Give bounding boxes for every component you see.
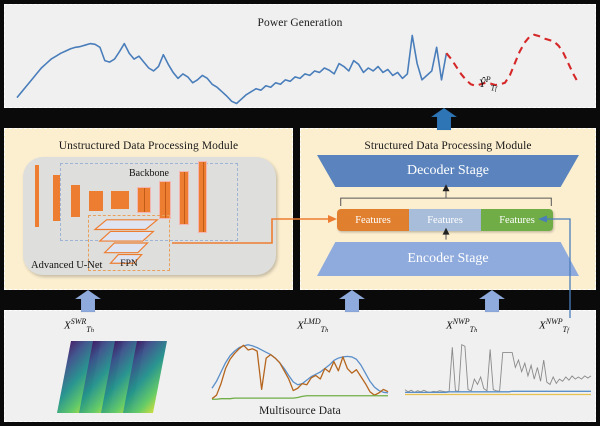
diagram-root: Power Generation ŶPTf Unstructured Data… bbox=[0, 0, 600, 426]
encoder-stage[interactable]: Encoder Stage bbox=[317, 242, 579, 276]
unstructured-module-title: Unstructured Data Processing Module bbox=[5, 140, 292, 152]
feature-label-2: Features bbox=[499, 215, 535, 226]
label-nwp-h-sup: NWP bbox=[453, 317, 470, 326]
unet-bar-split bbox=[144, 188, 145, 212]
nwp-series-spiky-gray bbox=[405, 345, 591, 393]
feature-box-nwp-future[interactable]: Features bbox=[481, 209, 553, 231]
label-nwp-future: XNWPTf bbox=[539, 317, 569, 334]
backbone-label: Backbone bbox=[61, 168, 237, 179]
nwp-timeseries-chart bbox=[403, 339, 593, 401]
label-swr-sup: SWR bbox=[71, 317, 87, 326]
label-nwp-history: XNWPTh bbox=[446, 317, 477, 334]
label-lmd: XLMDTh bbox=[297, 317, 328, 334]
unet-layer-bar-1 bbox=[53, 175, 60, 221]
swr-satellite-heatmaps bbox=[57, 339, 197, 415]
label-nwp-h-subsub: h bbox=[474, 327, 477, 334]
structured-data-processing-module: Structured Data Processing Module Decode… bbox=[300, 128, 596, 290]
unet-bar-split bbox=[165, 182, 166, 218]
power-generation-chart bbox=[5, 27, 595, 109]
unet-layer-bar-8 bbox=[198, 161, 207, 233]
arrow-swr-to-unet bbox=[75, 290, 101, 312]
unet-layer-bar-6 bbox=[159, 181, 171, 219]
encoder-stage-label: Encoder Stage bbox=[407, 251, 488, 267]
decoder-stage-label: Decoder Stage bbox=[407, 163, 489, 179]
lmd-series-flat-green bbox=[212, 396, 388, 399]
unet-layer-bar-5 bbox=[137, 187, 151, 213]
label-swr: XSWRTh bbox=[64, 317, 94, 334]
yhat-base: Ŷ bbox=[479, 76, 486, 90]
unet-layer-bar-7 bbox=[179, 171, 189, 225]
label-lmd-base: X bbox=[297, 320, 304, 332]
arrow-decoder-to-power bbox=[431, 108, 457, 130]
unet-layer-bar-4 bbox=[111, 191, 129, 209]
label-lmd-subsub: h bbox=[325, 327, 328, 334]
forecast-series bbox=[446, 35, 578, 86]
advanced-unet-label: Advanced U-Net bbox=[31, 260, 102, 271]
multisource-data-panel: Multisource Data XSWRTh XLMDTh XNWPTh XN… bbox=[4, 310, 596, 422]
feature-box-encoded[interactable]: Features bbox=[409, 209, 481, 231]
yhat-subsubscript: f bbox=[495, 85, 497, 92]
unet-bar-split bbox=[184, 172, 185, 224]
structured-module-title: Structured Data Processing Module bbox=[301, 140, 595, 152]
decoder-stage[interactable]: Decoder Stage bbox=[317, 155, 579, 187]
label-swr-subsub: h bbox=[91, 327, 94, 334]
feature-label-0: Features bbox=[355, 215, 391, 226]
arrow-lmd-to-encoder bbox=[339, 290, 365, 312]
unet-layer-bar-0 bbox=[35, 165, 39, 227]
unstructured-data-processing-module: Unstructured Data Processing Module Back… bbox=[4, 128, 293, 290]
history-series bbox=[17, 35, 446, 103]
predicted-power-label: ŶPTf bbox=[479, 75, 497, 92]
unet-layer-bar-3 bbox=[89, 191, 103, 211]
label-nwp-f-sup: NWP bbox=[546, 317, 563, 326]
label-swr-base: X bbox=[64, 320, 71, 332]
label-lmd-sup: LMD bbox=[304, 317, 321, 326]
unet-layer-bar-2 bbox=[71, 185, 80, 217]
label-nwp-h-base: X bbox=[446, 320, 453, 332]
lmd-timeseries-chart bbox=[210, 339, 390, 407]
label-nwp-f-subsub: f bbox=[567, 327, 569, 334]
label-nwp-f-base: X bbox=[539, 320, 546, 332]
advanced-unet-box: Backbone FPN Advanced U-Net bbox=[23, 157, 276, 275]
feature-label-1: Features bbox=[427, 215, 463, 226]
features-row: Features Features Features bbox=[337, 209, 553, 231]
unet-bar-split bbox=[203, 162, 204, 232]
arrow-nwp-to-encoder bbox=[479, 290, 505, 312]
power-generation-panel: Power Generation ŶPTf bbox=[4, 4, 596, 108]
feature-box-unstructured[interactable]: Features bbox=[337, 209, 409, 231]
lmd-series-noisy-brown bbox=[212, 345, 388, 398]
